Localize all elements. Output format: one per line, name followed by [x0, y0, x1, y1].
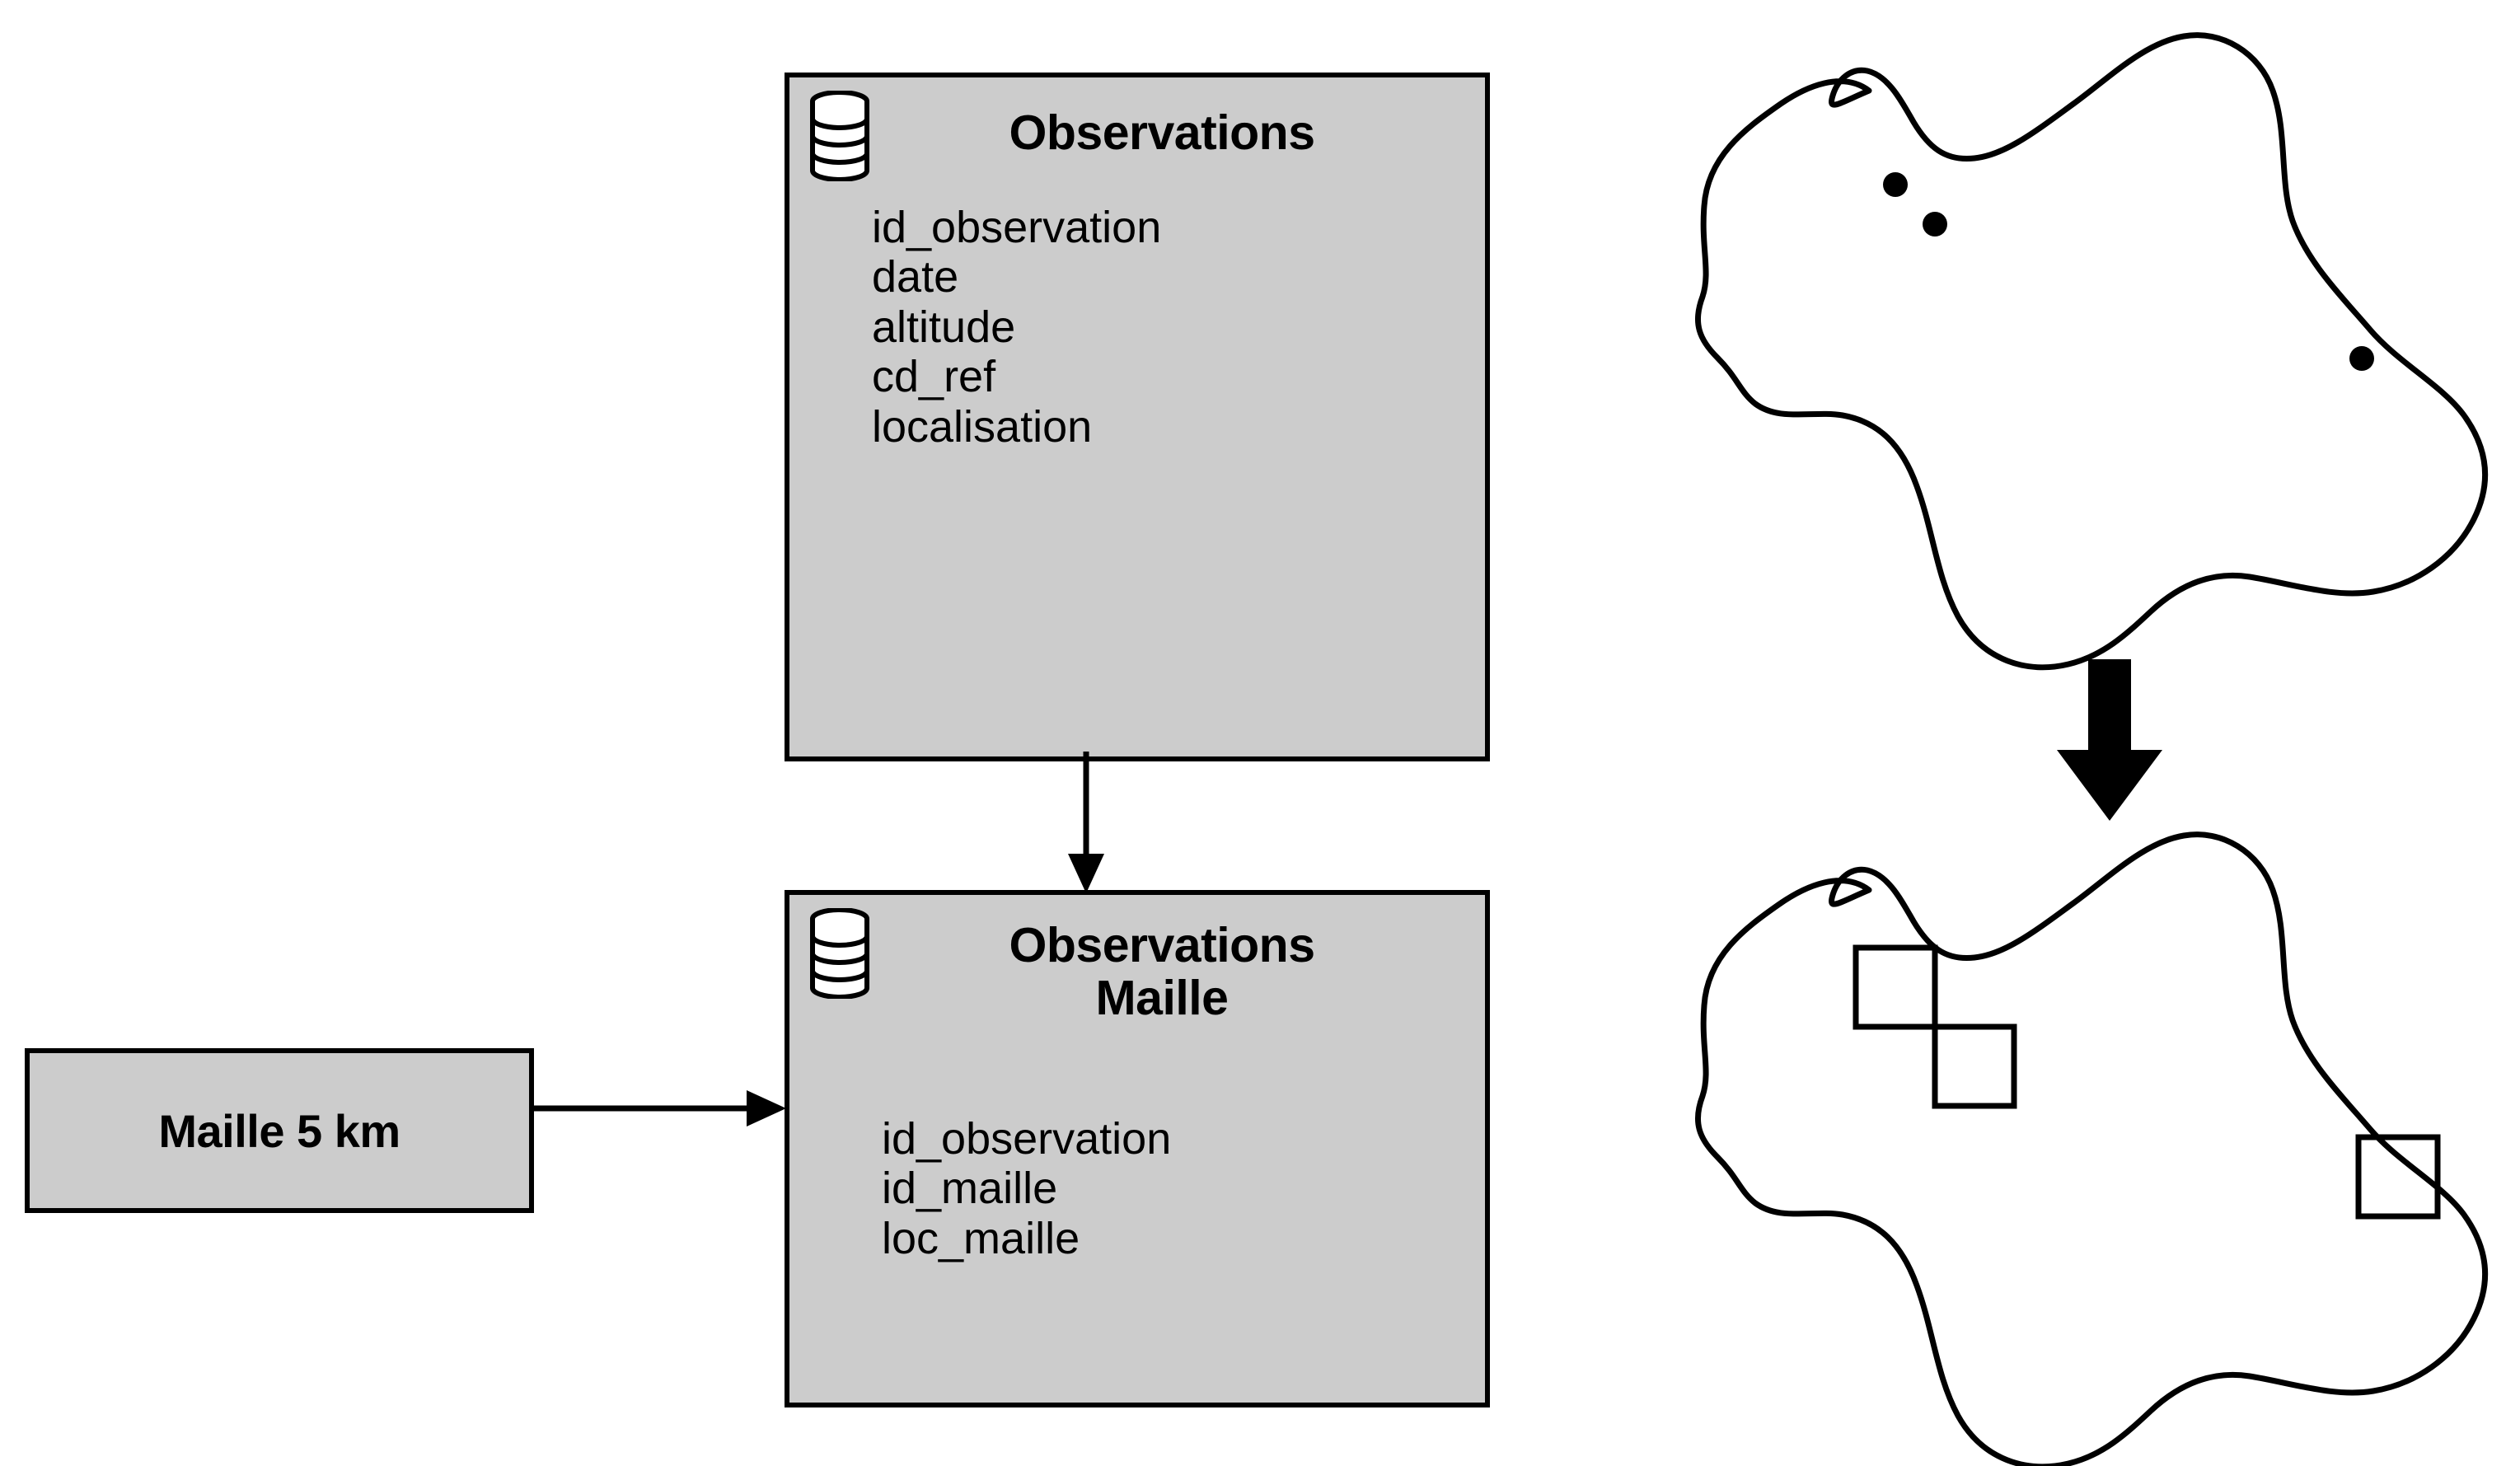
- entity-title-observations-maille: Observations Maille: [789, 920, 1485, 1024]
- entity-field: localisation: [872, 402, 1161, 452]
- entity-title-line2: Maille: [839, 972, 1485, 1025]
- maille-grid-label: Maille 5 km: [158, 1104, 400, 1158]
- grid-cell: [1856, 948, 1935, 1027]
- entity-field: altitude: [872, 302, 1161, 352]
- entity-box-observations-maille[interactable]: Observations Maille id_observation id_ma…: [785, 890, 1490, 1407]
- connector-maille-to-observations-maille: [524, 1080, 796, 1137]
- entity-box-observations[interactable]: Observations id_observation date altitud…: [785, 73, 1490, 761]
- entity-field-list-observations-maille: id_observation id_maille loc_maille: [882, 1114, 1171, 1263]
- diagram-canvas: Observations id_observation date altitud…: [0, 0, 2520, 1466]
- entity-field: cd_ref: [872, 352, 1161, 401]
- entity-field: id_maille: [882, 1164, 1171, 1213]
- entity-field: id_observation: [872, 203, 1161, 252]
- entity-field-list-observations: id_observation date altitude cd_ref loca…: [872, 203, 1161, 452]
- entity-title-observations: Observations: [789, 107, 1485, 160]
- territory-outline-icon: [1698, 835, 2485, 1466]
- observation-point: [1923, 212, 1947, 237]
- entity-field: id_observation: [882, 1114, 1171, 1164]
- entity-field: date: [872, 252, 1161, 302]
- observation-point: [1883, 172, 1908, 197]
- grid-cell: [1935, 1027, 2014, 1106]
- entity-title-line1: Observations: [839, 920, 1485, 972]
- map-grid-cells: [1681, 816, 2520, 1466]
- entity-field: loc_maille: [882, 1214, 1171, 1263]
- map-observation-points: [1681, 0, 2520, 684]
- observation-point: [2349, 346, 2374, 371]
- transform-arrow-icon: [2052, 659, 2167, 824]
- maille-grid-box[interactable]: Maille 5 km: [25, 1048, 534, 1213]
- connector-observations-to-observations-maille: [1047, 752, 1126, 900]
